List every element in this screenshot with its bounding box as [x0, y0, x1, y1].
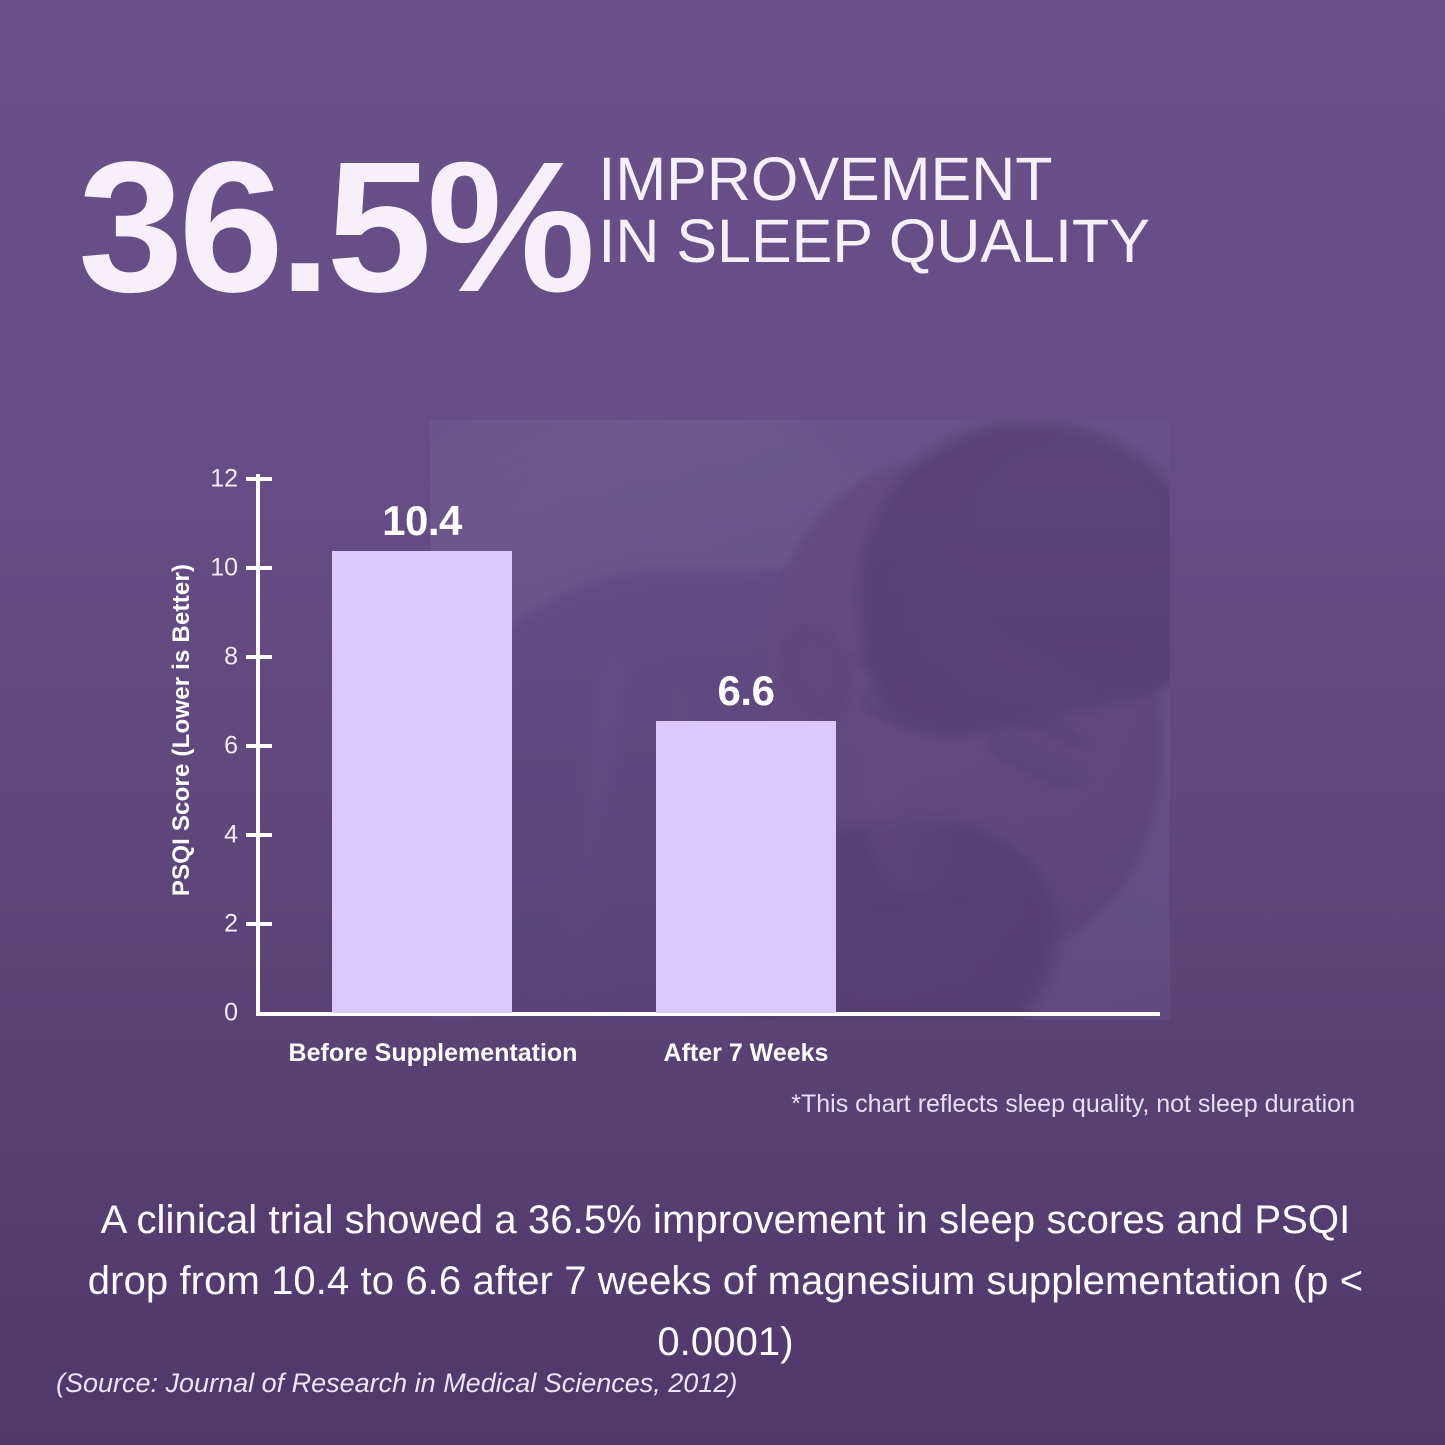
y-tick-label-6: 6 — [194, 732, 238, 761]
headline-stat: 36.5% — [78, 142, 590, 313]
bar-after-7-weeks — [656, 721, 836, 1013]
headline-subtitle: IMPROVEMENT IN SLEEP QUALITY — [598, 148, 1149, 272]
chart-footnote: *This chart reflects sleep quality, not … — [791, 1090, 1355, 1119]
y-tick-label-12: 12 — [194, 465, 238, 494]
y-tick-label-4: 4 — [194, 821, 238, 850]
bar-before-supplementation — [332, 551, 512, 1013]
category-label-before: Before Supplementation — [289, 1039, 578, 1068]
body-copy: A clinical trial showed a 36.5% improvem… — [78, 1190, 1373, 1372]
category-label-after: After 7 Weeks — [664, 1039, 829, 1068]
source-citation: (Source: Journal of Research in Medical … — [56, 1368, 737, 1399]
headline: 36.5% IMPROVEMENT IN SLEEP QUALITY — [78, 140, 1368, 313]
infographic-canvas: 36.5% IMPROVEMENT IN SLEEP QUALITY 0 2 4… — [0, 0, 1445, 1445]
bar-value-after: 6.6 — [718, 667, 775, 715]
bar-value-before: 10.4 — [382, 497, 462, 545]
headline-subtitle-line-1: IMPROVEMENT — [598, 145, 1052, 213]
y-tick-label-2: 2 — [194, 910, 238, 939]
y-tick-label-10: 10 — [194, 554, 238, 583]
headline-subtitle-line-2: IN SLEEP QUALITY — [598, 210, 1149, 272]
y-axis-label: PSQI Score (Lower is Better) — [168, 564, 196, 896]
y-tick-label-8: 8 — [194, 643, 238, 672]
y-tick-label-0: 0 — [194, 999, 238, 1028]
